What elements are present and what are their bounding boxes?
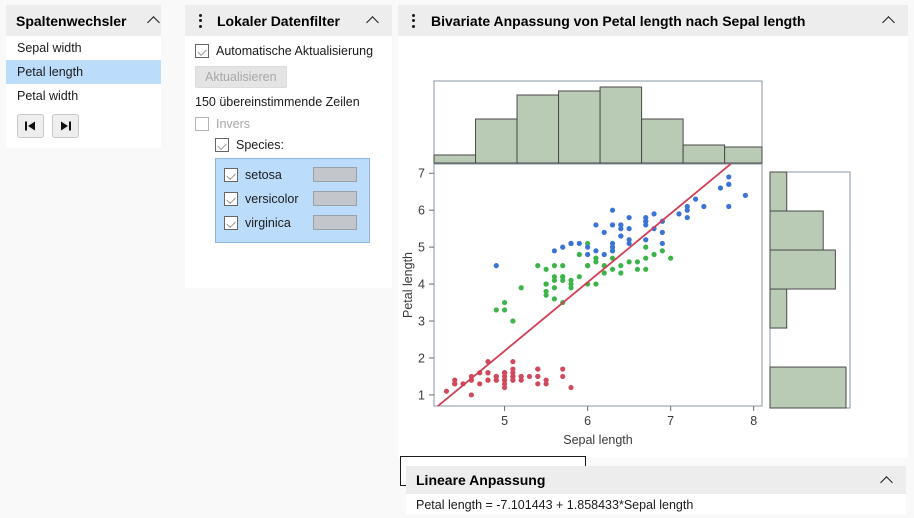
inverse-checkbox[interactable]: [195, 117, 209, 131]
auto-update-row[interactable]: Automatische Aktualisierung: [195, 44, 392, 58]
scatter-point-virginica: [618, 233, 623, 238]
setosa-checkbox[interactable]: [224, 168, 238, 182]
scatter-point-versicolor: [502, 300, 507, 305]
chevron-up-icon[interactable]: [883, 14, 896, 27]
x-tick-label: 8: [750, 414, 757, 428]
scatter-point-virginica: [643, 237, 648, 242]
scatter-point-virginica: [610, 245, 615, 250]
scatter-point-versicolor: [618, 270, 623, 275]
scatter-point-setosa: [502, 378, 507, 383]
scatter-point-virginica: [577, 241, 582, 246]
scatter-point-versicolor: [593, 281, 598, 286]
scatter-point-setosa: [519, 374, 524, 379]
species-value-list: setosa versicolor virginica: [215, 158, 370, 243]
inverse-label: Invers: [216, 117, 250, 131]
scatter-point-virginica: [743, 193, 748, 198]
first-column-button[interactable]: [17, 114, 44, 138]
y-axis-label: Petal length: [401, 252, 415, 318]
column-switcher-header[interactable]: Spaltenwechsler: [6, 5, 161, 36]
data-filter-title: Lokaler Datenfilter: [217, 13, 367, 29]
column-switcher-title: Spaltenwechsler: [16, 13, 148, 29]
column-switcher-panel: Spaltenwechsler Sepal width Petal length…: [6, 5, 161, 148]
skip-forward-icon: [58, 120, 73, 132]
scatter-point-versicolor: [585, 263, 590, 268]
scatter-point-setosa: [568, 385, 573, 390]
scatter-point-virginica: [685, 215, 690, 220]
species-item-virginica[interactable]: virginica: [224, 215, 369, 230]
scatter-point-virginica: [685, 208, 690, 213]
linear-fit-header[interactable]: Lineare Anpassung: [406, 466, 906, 494]
y-tick-label: 1: [418, 388, 425, 402]
kebab-menu-icon[interactable]: [193, 14, 207, 28]
data-filter-body: Automatische Aktualisierung Aktualisiere…: [185, 36, 392, 243]
y-tick-label: 3: [418, 315, 425, 329]
scatter-point-virginica: [585, 252, 590, 257]
next-column-button[interactable]: [52, 114, 79, 138]
scatter-point-virginica: [568, 241, 573, 246]
scatter-point-versicolor: [577, 252, 582, 257]
scatter-point-versicolor: [552, 274, 557, 279]
scatter-point-versicolor: [635, 267, 640, 272]
y-tick-label: 6: [418, 204, 425, 218]
scatter-point-versicolor: [510, 318, 515, 323]
scatter-point-versicolor: [552, 263, 557, 268]
scatter-point-virginica: [593, 248, 598, 253]
setosa-color-swatch[interactable]: [313, 167, 357, 182]
scatter-point-virginica: [560, 245, 565, 250]
scatter-point-versicolor: [651, 252, 656, 257]
scatter-point-virginica: [610, 208, 615, 213]
versicolor-color-swatch[interactable]: [313, 191, 357, 206]
scatter-point-virginica: [602, 230, 607, 235]
right-histogram-bar: [770, 367, 846, 408]
column-nav-bar: [6, 108, 161, 138]
scatter-point-virginica: [660, 230, 665, 235]
scatter-point-virginica: [660, 241, 665, 246]
top-histogram-bar: [517, 95, 559, 163]
scatter-point-versicolor: [544, 281, 549, 286]
scatter-point-setosa: [452, 381, 457, 386]
chevron-up-icon[interactable]: [881, 474, 894, 487]
scatter-point-versicolor: [643, 267, 648, 272]
linear-fit-title: Lineare Anpassung: [416, 472, 881, 488]
versicolor-label: versicolor: [245, 192, 299, 206]
top-histogram-bar: [683, 145, 725, 163]
scatter-point-virginica: [627, 237, 632, 242]
scatter-plot-svg[interactable]: 12345675678Sepal lengthPetal length: [398, 36, 908, 454]
x-tick-label: 5: [501, 414, 508, 428]
scatter-point-virginica: [494, 263, 499, 268]
local-data-filter-panel: Lokaler Datenfilter Automatische Aktuali…: [185, 5, 392, 288]
scatter-point-virginica: [701, 204, 706, 209]
linear-fit-equation: Petal length = -7.101443 + 1.858433*Sepa…: [406, 494, 906, 512]
scatter-point-versicolor: [535, 263, 540, 268]
right-histogram-bar: [770, 172, 787, 211]
top-histogram-bar: [600, 87, 642, 163]
scatter-point-setosa: [544, 381, 549, 386]
x-tick-label: 7: [667, 414, 674, 428]
species-item-setosa[interactable]: setosa: [224, 167, 369, 182]
species-group-row[interactable]: Species:: [215, 138, 392, 152]
scatter-point-setosa: [535, 366, 540, 371]
scatter-point-virginica: [627, 215, 632, 220]
y-tick-label: 2: [418, 351, 425, 365]
top-histogram-bar: [642, 119, 684, 163]
virginica-color-swatch[interactable]: [313, 215, 357, 230]
species-item-versicolor[interactable]: versicolor: [224, 191, 369, 206]
column-item-petal-width[interactable]: Petal width: [6, 84, 161, 108]
scatter-point-versicolor: [627, 259, 632, 264]
scatter-point-virginica: [651, 211, 656, 216]
scatter-point-versicolor: [494, 307, 499, 312]
scatter-point-virginica: [676, 211, 681, 216]
virginica-checkbox[interactable]: [224, 216, 238, 230]
scatter-point-versicolor: [668, 256, 673, 261]
chevron-up-icon[interactable]: [148, 14, 161, 27]
kebab-menu-icon[interactable]: [406, 14, 420, 28]
column-list: Sepal width Petal length Petal width: [6, 36, 161, 108]
column-item-petal-length[interactable]: Petal length: [6, 60, 161, 84]
x-axis-label: Sepal length: [563, 433, 633, 447]
y-tick-label: 7: [418, 167, 425, 181]
scatter-point-versicolor: [577, 274, 582, 279]
top-histogram-bar: [559, 91, 601, 163]
scatter-point-setosa: [560, 366, 565, 371]
scatter-point-versicolor: [618, 263, 623, 268]
y-tick-label: 5: [418, 241, 425, 255]
top-histogram-bar: [476, 119, 518, 163]
y-tick-label: 4: [418, 278, 425, 292]
species-label: Species:: [236, 138, 284, 152]
scatter-point-virginica: [618, 226, 623, 231]
right-histogram-bar: [770, 250, 835, 289]
column-item-sepal-width[interactable]: Sepal width: [6, 36, 161, 60]
scatter-point-versicolor: [593, 259, 598, 264]
scatter-point-virginica: [602, 252, 607, 257]
scatter-point-virginica: [552, 248, 557, 253]
matching-rows-text: 150 übereinstimmende Zeilen: [195, 95, 392, 109]
scatter-point-virginica: [726, 174, 731, 179]
bivariate-title: Bivariate Anpassung von Petal length nac…: [431, 13, 883, 29]
species-checkbox[interactable]: [215, 138, 229, 152]
scatter-point-versicolor: [643, 256, 648, 261]
scatter-point-setosa: [510, 359, 515, 364]
scatter-point-virginica: [718, 185, 723, 190]
scatter-point-setosa: [469, 392, 474, 397]
linear-fit-panel: Lineare Anpassung Petal length = -7.1014…: [406, 466, 906, 514]
scatter-point-versicolor: [544, 293, 549, 298]
auto-update-checkbox[interactable]: [195, 44, 209, 58]
scatter-point-setosa: [535, 374, 540, 379]
scatter-point-versicolor: [560, 263, 565, 268]
versicolor-checkbox[interactable]: [224, 192, 238, 206]
right-histogram-bar: [770, 289, 787, 328]
scatter-point-setosa: [510, 370, 515, 375]
skip-back-icon: [23, 120, 38, 132]
scatter-point-versicolor: [660, 248, 665, 253]
scatter-point-setosa: [444, 389, 449, 394]
inverse-row[interactable]: Invers: [195, 117, 392, 131]
right-histogram-bar: [770, 211, 823, 250]
scatter-point-setosa: [527, 374, 532, 379]
top-histogram-bar: [725, 147, 762, 163]
scatter-point-versicolor: [560, 278, 565, 283]
scatter-point-setosa: [485, 378, 490, 383]
scatter-point-versicolor: [552, 285, 557, 290]
scatter-point-virginica: [726, 182, 731, 187]
scatter-point-virginica: [627, 226, 632, 231]
plot-area: 12345675678Sepal lengthPetal length Line…: [398, 36, 908, 458]
chevron-up-icon[interactable]: [367, 14, 380, 27]
scatter-point-setosa: [485, 370, 490, 375]
scatter-point-virginica: [585, 245, 590, 250]
scatter-point-virginica: [643, 219, 648, 224]
scatter-point-versicolor: [643, 245, 648, 250]
scatter-point-versicolor: [568, 281, 573, 286]
data-filter-header[interactable]: Lokaler Datenfilter: [185, 5, 392, 36]
scatter-point-setosa: [535, 381, 540, 386]
scatter-point-setosa: [560, 374, 565, 379]
scatter-point-versicolor: [502, 307, 507, 312]
virginica-label: virginica: [245, 216, 291, 230]
scatter-point-versicolor: [635, 259, 640, 264]
x-tick-label: 6: [584, 414, 591, 428]
scatter-point-setosa: [477, 381, 482, 386]
scatter-point-versicolor: [519, 285, 524, 290]
scatter-point-virginica: [610, 222, 615, 227]
scatter-point-virginica: [726, 204, 731, 209]
scatter-point-versicolor: [544, 267, 549, 272]
setosa-label: setosa: [245, 168, 282, 182]
auto-update-label: Automatische Aktualisierung: [216, 44, 373, 58]
scatter-point-virginica: [693, 197, 698, 202]
scatter-point-setosa: [494, 378, 499, 383]
scatter-point-setosa: [502, 370, 507, 375]
scatter-point-virginica: [593, 222, 598, 227]
scatter-point-versicolor: [552, 296, 557, 301]
bivariate-header[interactable]: Bivariate Anpassung von Petal length nac…: [398, 5, 908, 36]
update-button[interactable]: Aktualisieren: [195, 66, 287, 88]
top-histogram-bar: [434, 155, 476, 163]
bivariate-fit-panel: Bivariate Anpassung von Petal length nac…: [398, 5, 908, 458]
scatter-point-versicolor: [610, 267, 615, 272]
